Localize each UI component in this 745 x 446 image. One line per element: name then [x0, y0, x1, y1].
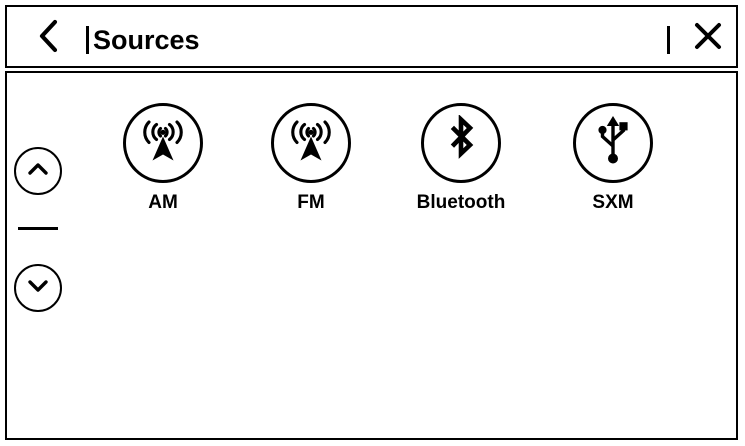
title-left-divider: [86, 26, 89, 54]
source-item-bluetooth[interactable]: Bluetooth: [386, 103, 536, 238]
source-label: FM: [297, 191, 324, 215]
close-icon: [693, 21, 723, 56]
source-icon-circle: [421, 103, 501, 183]
radio-tower-icon: [135, 113, 191, 174]
source-label: SXM: [592, 191, 633, 215]
page-title: Sources: [93, 21, 200, 59]
source-item-sxm[interactable]: SXM: [538, 103, 688, 238]
close-button[interactable]: [688, 18, 728, 58]
source-grid: AM: [5, 71, 738, 440]
source-icon-circle: [123, 103, 203, 183]
source-label: AM: [148, 191, 178, 215]
source-icon-circle: [271, 103, 351, 183]
back-button[interactable]: [29, 17, 69, 59]
source-icon-circle: [573, 103, 653, 183]
header-bar: Sources: [5, 5, 738, 68]
sources-screen: Sources: [0, 0, 745, 446]
title-right-divider: [667, 26, 670, 54]
source-item-fm[interactable]: FM: [236, 103, 386, 238]
chevron-left-icon: [37, 19, 61, 58]
source-item-am[interactable]: AM: [88, 103, 238, 238]
radio-tower-icon: [283, 113, 339, 174]
bluetooth-icon: [437, 115, 485, 172]
source-label: Bluetooth: [417, 191, 506, 215]
usb-icon: [591, 114, 635, 173]
